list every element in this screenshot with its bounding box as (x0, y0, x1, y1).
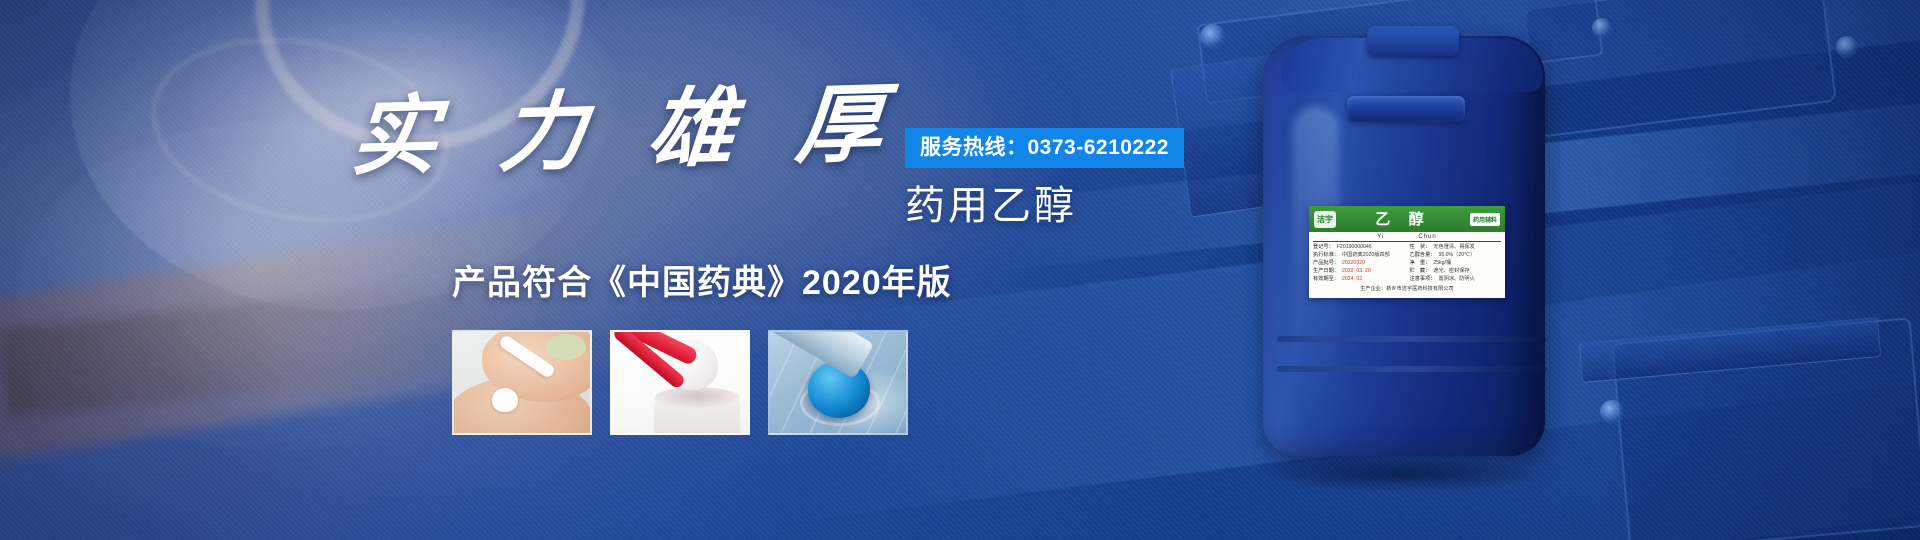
drum-ridge-1 (1277, 336, 1547, 342)
label-row: 生产日期：2022. 03. 20 (1313, 268, 1405, 275)
label-key: 性 状： (1410, 244, 1431, 251)
drum-body: 洁宇 乙 醇 药用辅料 Yi Chun 登记号：F20190000046 执行标… (1263, 36, 1545, 456)
drum-shadow (1265, 458, 1545, 492)
label-spec-column-right: 性 状：无色澄清、易挥发 乙醇含量：95.0%（20℃） 净 重：25kg/桶 … (1410, 244, 1502, 283)
label-key: 注意事项： (1410, 276, 1436, 283)
label-row: 乙醇含量：95.0%（20℃） (1410, 252, 1502, 259)
label-value: 2022. 03. 20 (1342, 268, 1371, 275)
standard-compliance-line: 产品符合《中国药典》2020年版 (452, 266, 952, 300)
label-row: 净 重：25kg/桶 (1410, 260, 1502, 267)
jar-lip-shape (654, 387, 740, 409)
label-row: 有效期至：2024. 02 (1313, 276, 1405, 283)
label-row: 贮 藏：遮光、密封保存 (1410, 268, 1502, 275)
drum-handle (1347, 96, 1465, 122)
label-row: 执行标准：中国药典2020版四部 (1313, 252, 1405, 259)
label-value: 中国药典2020版四部 (1342, 252, 1390, 259)
label-key: 登记号： (1313, 244, 1334, 251)
thumbnail-strip (452, 330, 908, 435)
label-spec-column-left: 登记号：F20190000046 执行标准：中国药典2020版四部 产品批号：2… (1313, 244, 1405, 283)
label-value: 2024. 02 (1342, 276, 1362, 283)
leaf-shape (546, 334, 586, 360)
label-key: 生产日期： (1313, 268, 1339, 275)
pinyin-right: Chun (1418, 234, 1436, 240)
promo-banner: 实 力 雄 厚 服务热线：0373-6210222 药用乙醇 产品符合《中国药典… (0, 0, 1920, 540)
copy-block: 实 力 雄 厚 服务热线：0373-6210222 药用乙醇 产品符合《中国药典… (0, 0, 1100, 540)
product-label: 洁宇 乙 醇 药用辅料 Yi Chun 登记号：F20190000046 执行标… (1309, 206, 1505, 298)
label-value: 遮光、密封保存 (1433, 268, 1469, 275)
label-key: 执行标准： (1313, 252, 1339, 259)
label-key: 有效期至： (1313, 276, 1339, 283)
label-key: 乙醇含量： (1410, 252, 1436, 259)
thumbnail-pipette-blue-liquid[interactable] (768, 330, 908, 435)
label-value: 无色澄清、易挥发 (1433, 244, 1475, 251)
label-value: 25kg/桶 (1433, 260, 1451, 267)
label-pinyin-row: Yi Chun (1309, 232, 1505, 241)
drum-cap (1367, 26, 1459, 56)
product-name: 药用乙醇 (905, 186, 1077, 226)
label-grade-tag: 药用辅料 (1470, 213, 1500, 226)
label-key: 产品批号： (1313, 260, 1339, 267)
hotline-badge[interactable]: 服务热线：0373-6210222 (905, 128, 1184, 168)
label-value: 95.0%（20℃） (1438, 252, 1475, 259)
swab-tip-shape (492, 388, 518, 412)
headline-calligraphy: 实 力 雄 厚 (348, 81, 902, 181)
thumbnail-forceps-cotton-ball[interactable] (610, 330, 750, 435)
drum-ridge-2 (1277, 366, 1547, 372)
label-header: 洁宇 乙 醇 药用辅料 (1309, 206, 1505, 232)
label-value: F20190000046 (1337, 244, 1372, 251)
label-row: 注意事项：置阴凉、防明火 (1410, 276, 1502, 283)
label-title: 乙 醇 (1342, 212, 1464, 227)
label-row: 产品批号：20220320 (1313, 260, 1405, 267)
label-row: 性 状：无色澄清、易挥发 (1410, 244, 1502, 251)
brand-logo-icon: 洁宇 (1314, 211, 1336, 228)
pinyin-left: Yi (1377, 234, 1384, 240)
label-row: 登记号：F20190000046 (1313, 244, 1405, 251)
label-key: 贮 藏： (1410, 268, 1431, 275)
label-key: 净 重： (1410, 260, 1431, 267)
label-value: 置阴凉、防明火 (1438, 276, 1474, 283)
product-drum: 洁宇 乙 醇 药用辅料 Yi Chun 登记号：F20190000046 执行标… (1255, 18, 1555, 498)
label-manufacturer: 生产企业：新乡市洁宇医药科技有限公司 (1309, 283, 1505, 292)
thumbnail-cotton-swab-on-skin[interactable] (452, 330, 592, 435)
label-value: 20220320 (1342, 260, 1365, 267)
label-spec-grid: 登记号：F20190000046 执行标准：中国药典2020版四部 产品批号：2… (1309, 242, 1505, 283)
